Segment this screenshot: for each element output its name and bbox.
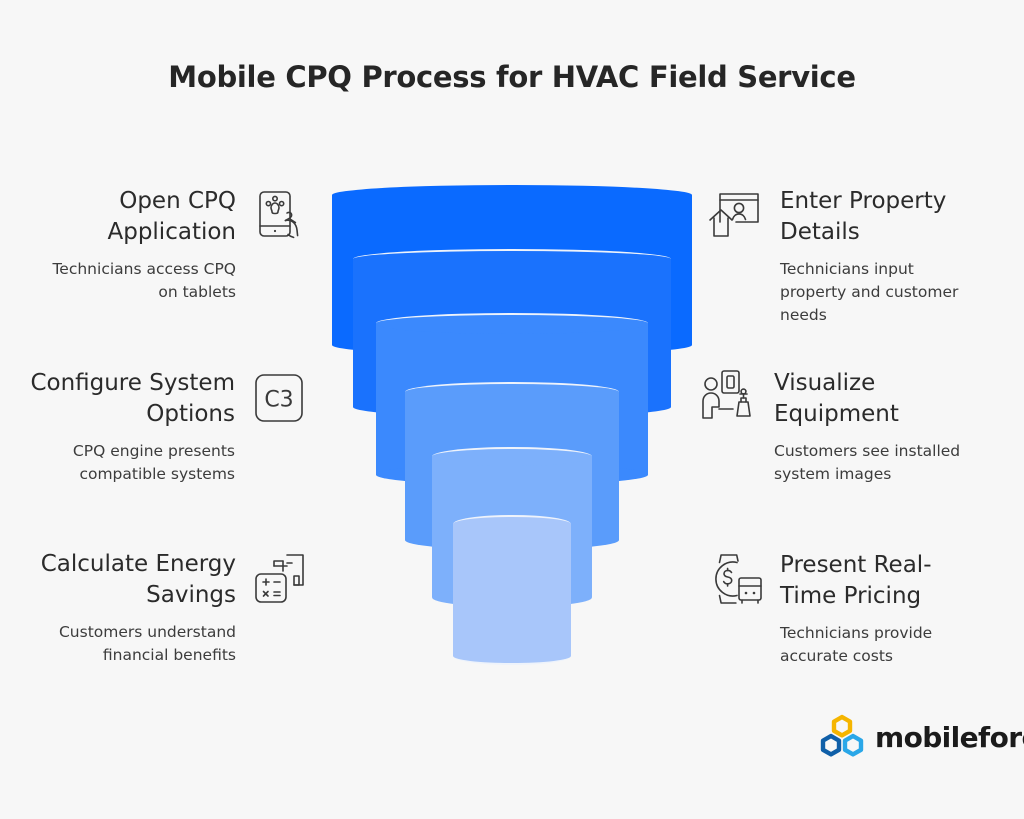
step-visualize-equipment[interactable]: Visualize Equipment Customers see instal… bbox=[700, 368, 974, 486]
funnel-graphic bbox=[332, 185, 692, 695]
step-description: Technicians provide accurate costs bbox=[780, 622, 980, 668]
step-description: Customers see installed system images bbox=[774, 440, 974, 486]
step-enter-property-details[interactable]: Enter Property Details Technicians input… bbox=[706, 186, 980, 327]
step-heading: Visualize Equipment bbox=[774, 368, 974, 429]
step-description: Technicians access CPQ on tablets bbox=[30, 258, 236, 304]
step-heading: Calculate Energy Savings bbox=[22, 549, 236, 610]
person-display-equipment-icon bbox=[700, 368, 760, 428]
step-description: Customers understand financial benefits bbox=[22, 621, 236, 667]
brand-logo[interactable]: mobileforce bbox=[817, 714, 1024, 760]
c3-badge-icon: C3 bbox=[249, 368, 309, 428]
step-heading: Enter Property Details bbox=[780, 186, 980, 247]
property-profile-icon bbox=[706, 186, 766, 246]
step-open-cpq-application[interactable]: Open CPQ Application Technicians access … bbox=[30, 186, 310, 304]
page-title: Mobile CPQ Process for HVAC Field Servic… bbox=[0, 60, 1024, 94]
step-description: Technicians input property and customer … bbox=[780, 258, 980, 327]
svg-text:C3: C3 bbox=[264, 388, 293, 413]
calculator-icon bbox=[250, 549, 310, 609]
funnel-layer-6 bbox=[453, 515, 571, 665]
tablet-hand-icon bbox=[250, 186, 310, 246]
step-present-real-time-pricing[interactable]: Present Real-Time Pricing Technicians pr… bbox=[706, 550, 980, 668]
step-heading: Configure System Options bbox=[20, 368, 235, 429]
step-description: CPQ engine presents compatible systems bbox=[20, 440, 235, 486]
infographic-canvas: Mobile CPQ Process for HVAC Field Servic… bbox=[0, 0, 1024, 819]
step-calculate-energy-savings[interactable]: Calculate Energy Savings Customers under… bbox=[22, 549, 310, 667]
brand-name: mobileforce bbox=[875, 721, 1024, 754]
step-heading: Open CPQ Application bbox=[30, 186, 236, 247]
step-configure-system-options[interactable]: Configure System Options CPQ engine pres… bbox=[20, 368, 310, 486]
watch-dollar-icon bbox=[706, 550, 766, 610]
mobileforce-hexagon-mark-icon bbox=[817, 714, 867, 760]
step-heading: Present Real-Time Pricing bbox=[780, 550, 980, 611]
